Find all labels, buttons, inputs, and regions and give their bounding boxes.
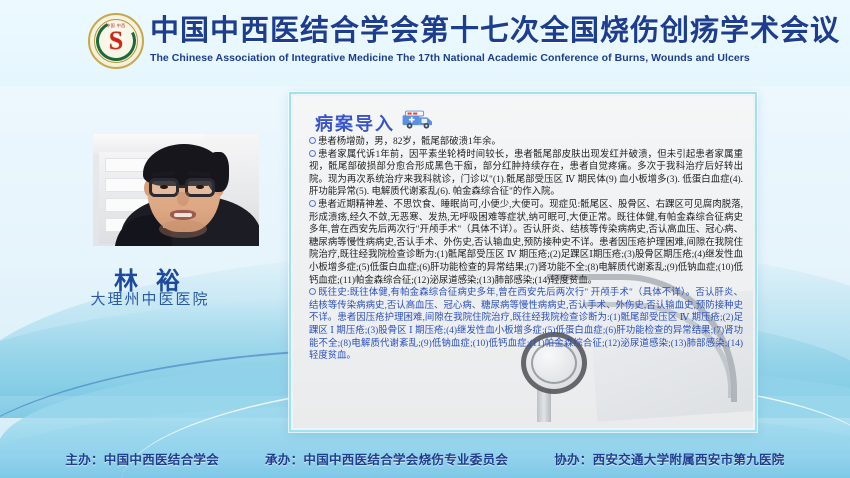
speaker-nose bbox=[177, 192, 189, 206]
presentation-slide-frame[interactable]: 病案导入 患者杨增勋，男，82岁，骶尾部破溃1年余。 bbox=[289, 92, 757, 432]
speaker-eye-left bbox=[160, 185, 168, 189]
slide-paragraph-text: 患者家属代诉1年前，因平素坐轮椅时间较长，患者骶尾部皮肤出现发红并破溃，但未引起… bbox=[309, 150, 743, 198]
conference-title-en: The Chinese Association of Integrative M… bbox=[150, 52, 840, 65]
association-emblem-icon: 中国 中西 S bbox=[88, 13, 144, 69]
stethoscope-stem bbox=[537, 388, 551, 422]
eyeglasses-bridge bbox=[179, 185, 187, 188]
speaker-eye-right bbox=[196, 185, 204, 189]
speaker-mouth bbox=[170, 210, 196, 220]
slide-title: 病案导入 bbox=[315, 110, 395, 136]
presentation-slide: 病案导入 患者杨增勋，男，82岁，骶尾部破溃1年余。 bbox=[293, 96, 753, 428]
bullet-icon bbox=[309, 137, 316, 144]
slide-paragraph: 患者家属代诉1年前，因平素坐轮椅时间较长，患者骶尾部皮肤出现发红并破溃，但未引起… bbox=[309, 149, 743, 199]
speaker-chin bbox=[159, 220, 207, 238]
bullet-icon bbox=[309, 150, 316, 157]
slide-paragraph-text: 既往史:既往体健,有帕金森综合征病史多年,曾在西安先后两次行" 开颅手术"（具体… bbox=[309, 288, 743, 361]
footer-organizer: 主办：中国中西医结合学会 bbox=[65, 449, 219, 468]
ambulance-icon bbox=[401, 109, 435, 130]
footer-coorganizer: 协办：西安交通大学附属西安市第九医院 bbox=[554, 449, 784, 468]
speaker-organization: 大理州中医医院 bbox=[0, 288, 300, 309]
footer-undertaker: 承办：中国中西医结合学会烧伤专业委员会 bbox=[265, 449, 508, 468]
speaker-webcam-feed[interactable] bbox=[93, 134, 259, 246]
slide-body-text: 患者杨增勋，男，82岁，骶尾部破溃1年余。 患者家属代诉1年前，因平素坐轮椅时间… bbox=[309, 136, 743, 363]
slide-paragraph: 患者杨增勋，男，82岁，骶尾部破溃1年余。 bbox=[309, 136, 743, 149]
slide-paragraph: 患者近期精神差、不思饮食、睡眠尚可,小便少,大便可。现症见:骶尾区、股骨区、右踝… bbox=[309, 199, 743, 287]
conference-header: 中国 中西 S 中国中西医结合学会第十七次全国烧伤创疡学术会议 The Chin… bbox=[0, 0, 850, 86]
header-title-block: 中国中西医结合学会第十七次全国烧伤创疡学术会议 The Chinese Asso… bbox=[150, 14, 840, 65]
slide-paragraph-text: 患者近期精神差、不思饮食、睡眠尚可,小便少,大便可。现症见:骶尾区、股骨区、右踝… bbox=[309, 200, 743, 286]
slide-paragraph-text: 患者杨增勋，男，82岁，骶尾部破溃1年余。 bbox=[318, 137, 501, 147]
bullet-icon bbox=[309, 200, 316, 207]
slide-paragraph: 既往史:既往体健,有帕金森综合征病史多年,曾在西安先后两次行" 开颅手术"（具体… bbox=[309, 287, 743, 363]
emblem-letter: S bbox=[109, 28, 123, 54]
conference-footer: 主办：中国中西医结合学会 承办：中国中西医结合学会烧伤专业委员会 协办：西安交通… bbox=[0, 449, 850, 468]
broadcast-stage: 中国 中西 S 中国中西医结合学会第十七次全国烧伤创疡学术会议 The Chin… bbox=[0, 0, 850, 478]
conference-title-cn: 中国中西医结合学会第十七次全国烧伤创疡学术会议 bbox=[150, 14, 840, 48]
bullet-icon bbox=[309, 288, 316, 295]
